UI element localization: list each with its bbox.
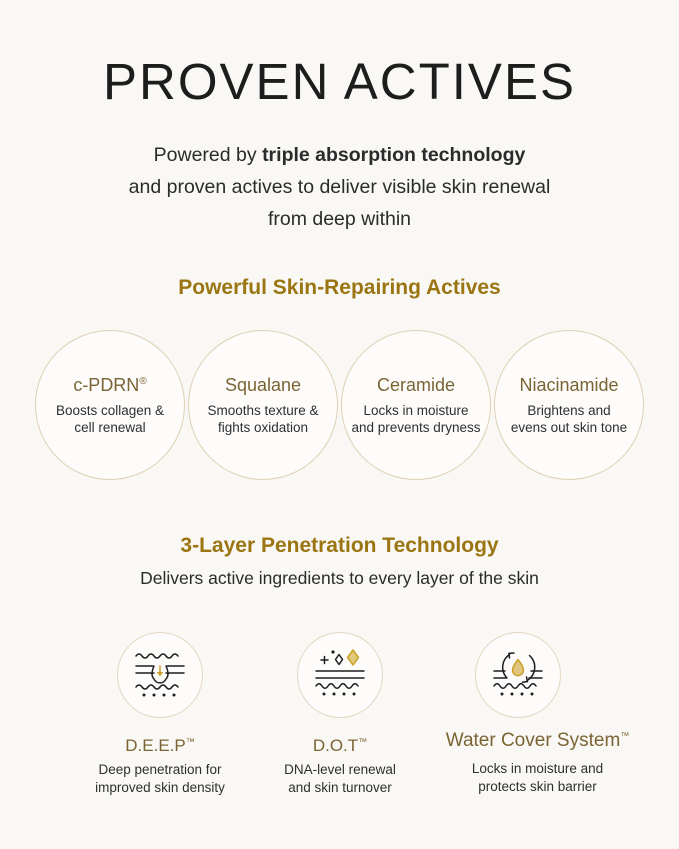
trademark-icon: ™ bbox=[186, 736, 195, 746]
page-title: PROVEN ACTIVES bbox=[0, 53, 679, 111]
subtitle-line-2: and proven actives to deliver visible sk… bbox=[0, 171, 679, 203]
subtitle-line-1-emphasis: triple absorption technology bbox=[262, 144, 525, 166]
active-name: Ceramide bbox=[377, 375, 455, 396]
technology-description: Deep penetration for improved skin densi… bbox=[60, 761, 260, 797]
technology-caption-water-cover-system: Water Cover System™ Locks in moisture an… bbox=[415, 730, 660, 796]
subtitle-line-1-prefix: Powered by bbox=[154, 144, 262, 166]
active-name-text: Squalane bbox=[225, 375, 301, 395]
technology-name-text: D.O.T bbox=[313, 736, 358, 755]
active-name: c-PDRN® bbox=[73, 375, 146, 396]
technology-caption-dot: D.O.T™ DNA-level renewal and skin turnov… bbox=[245, 736, 435, 797]
technology-icon-circle-water bbox=[475, 632, 561, 718]
subtitle-line-1: Powered by triple absorption technology bbox=[0, 139, 679, 171]
actives-circle-row: c-PDRN® Boosts collagen & cell renewal S… bbox=[0, 330, 679, 482]
active-circle-ceramide: Ceramide Locks in moisture and prevents … bbox=[341, 330, 491, 480]
technology-caption-deep: D.E.E.P™ Deep penetration for improved s… bbox=[60, 736, 260, 797]
actives-section-heading: Powerful Skin-Repairing Actives bbox=[0, 276, 679, 300]
technology-name-text: D.E.E.P bbox=[125, 736, 185, 755]
active-description: Brightens and evens out skin tone bbox=[511, 402, 627, 436]
active-name-text: c-PDRN bbox=[73, 375, 139, 395]
trademark-icon: ™ bbox=[620, 731, 629, 741]
active-description: Locks in moisture and prevents dryness bbox=[351, 402, 480, 436]
active-name: Squalane bbox=[225, 375, 301, 396]
layers-section-subtitle: Delivers active ingredients to every lay… bbox=[0, 568, 679, 589]
infographic-page: PROVEN ACTIVES Powered by triple absorpt… bbox=[0, 0, 679, 849]
technology-name: D.O.T™ bbox=[245, 736, 435, 756]
skin-pore-absorption-icon bbox=[132, 647, 188, 704]
registered-trademark-icon: ® bbox=[139, 376, 146, 387]
water-droplet-cycle-icon bbox=[490, 647, 546, 704]
active-circle-squalane: Squalane Smooths texture & fights oxidat… bbox=[188, 330, 338, 480]
active-name-text: Ceramide bbox=[377, 375, 455, 395]
technology-name: Water Cover System™ bbox=[415, 730, 660, 752]
technology-description: Locks in moisture and protects skin barr… bbox=[415, 760, 660, 796]
technology-icon-circle-dot bbox=[297, 632, 383, 718]
active-description: Smooths texture & fights oxidation bbox=[207, 402, 318, 436]
page-subtitle: Powered by triple absorption technology … bbox=[0, 139, 679, 235]
technology-icon-circle-deep bbox=[117, 632, 203, 718]
technology-name: D.E.E.P™ bbox=[60, 736, 260, 756]
technology-icon-row bbox=[0, 632, 679, 722]
trademark-icon: ™ bbox=[358, 736, 367, 746]
subtitle-line-3: from deep within bbox=[0, 203, 679, 235]
skin-sparkle-renewal-icon bbox=[312, 647, 368, 704]
technology-name-text: Water Cover System bbox=[446, 730, 621, 751]
active-circle-niacinamide: Niacinamide Brightens and evens out skin… bbox=[494, 330, 644, 480]
active-name-text: Niacinamide bbox=[519, 375, 618, 395]
active-description: Boosts collagen & cell renewal bbox=[56, 402, 164, 436]
technology-description: DNA-level renewal and skin turnover bbox=[245, 761, 435, 797]
active-circle-c-pdrn: c-PDRN® Boosts collagen & cell renewal bbox=[35, 330, 185, 480]
layers-section-heading: 3-Layer Penetration Technology bbox=[0, 534, 679, 558]
active-name: Niacinamide bbox=[519, 375, 618, 396]
